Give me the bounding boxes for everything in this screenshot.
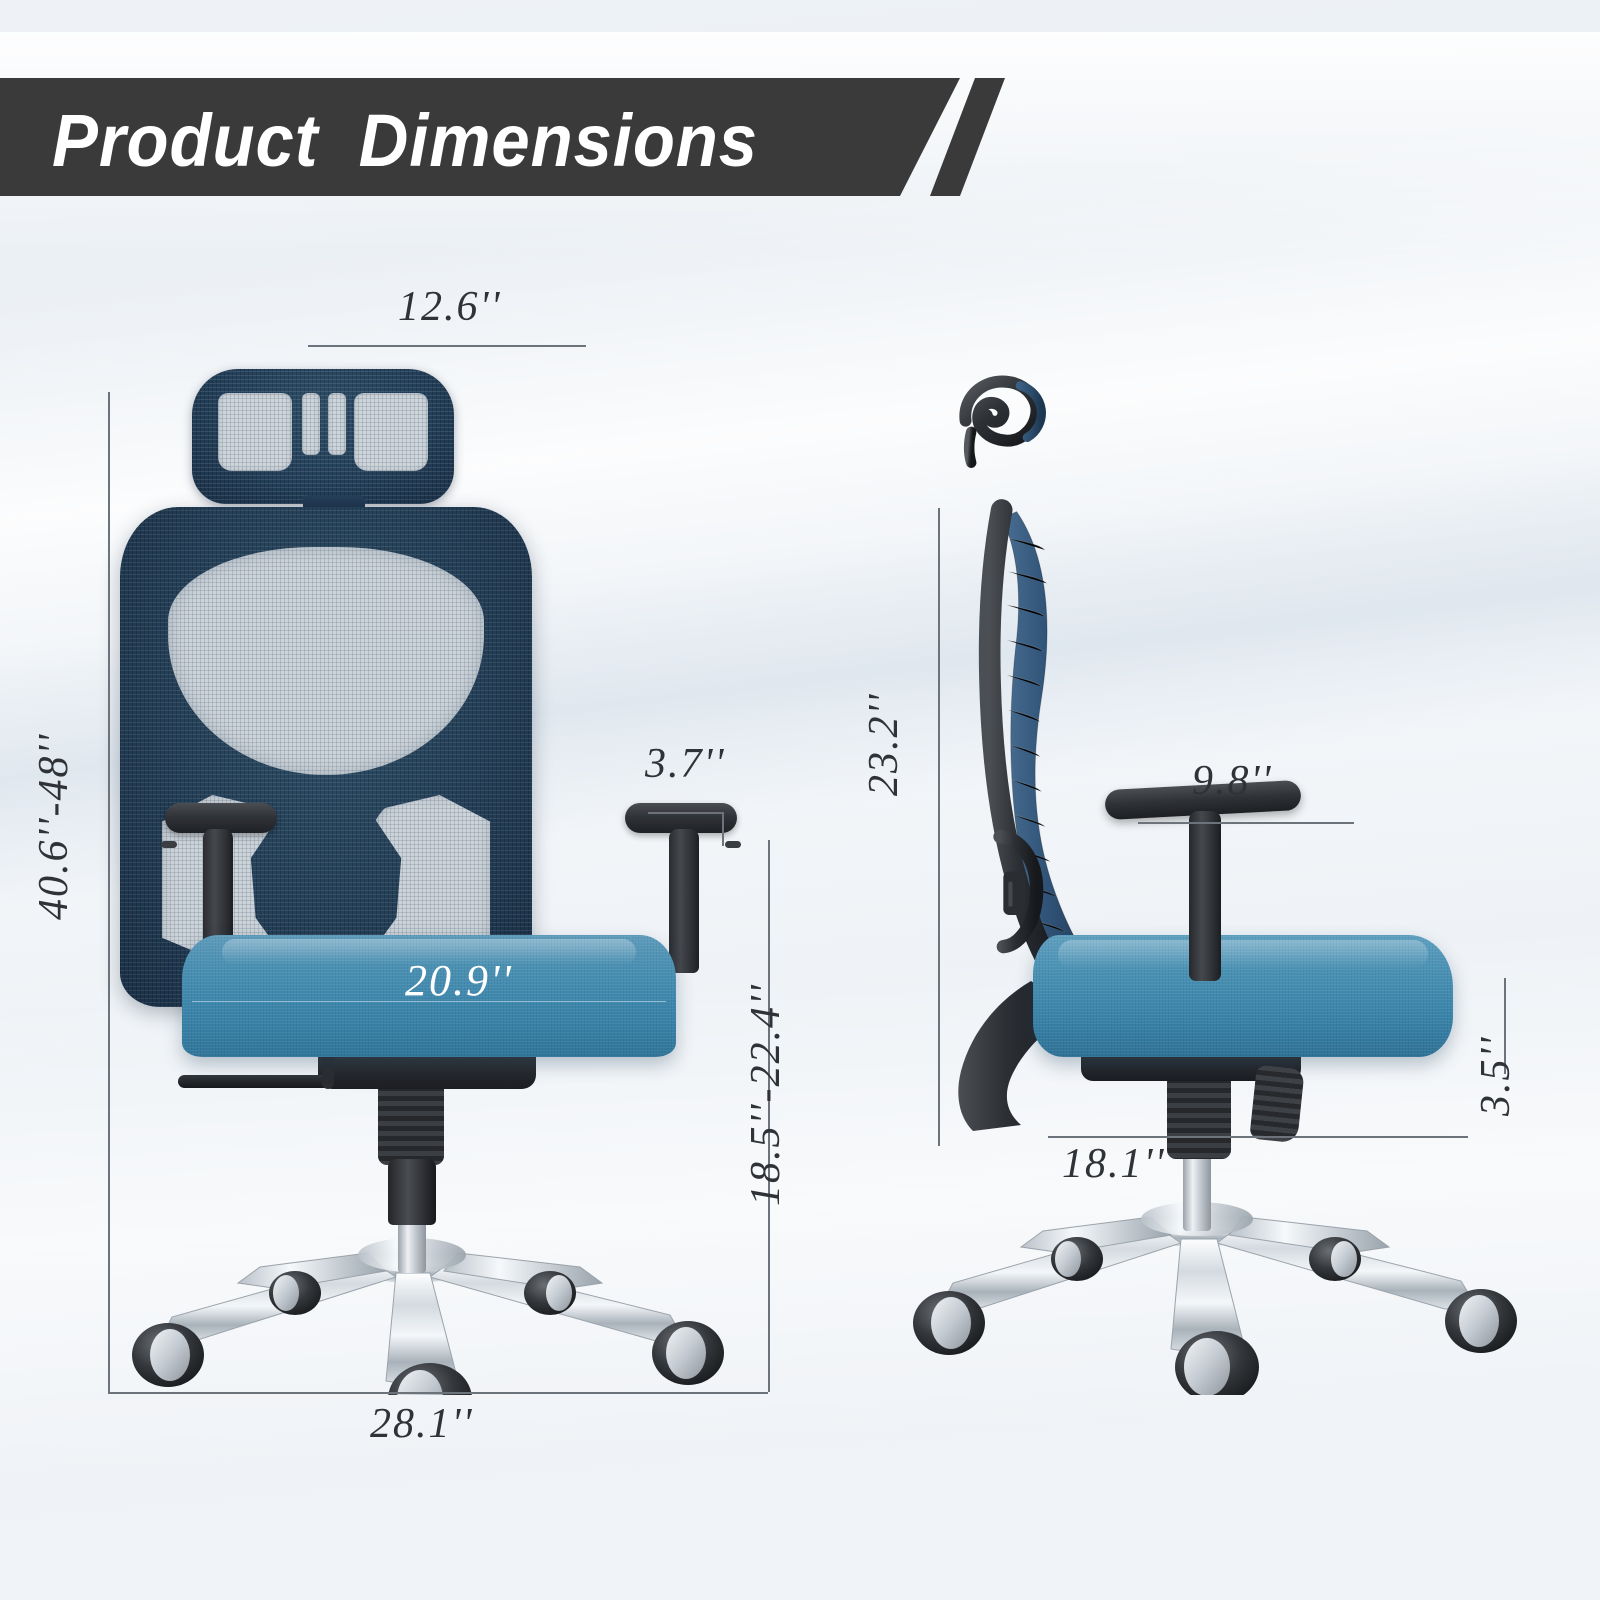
gas-cylinder [1183,1151,1211,1231]
armrest-post [1189,811,1221,981]
measure-line-headrest-width [308,345,586,347]
chair-front-view [110,355,770,1395]
caster [913,1291,985,1355]
measure-line-armrest-width [648,812,724,814]
measure-line-armrest-length [1138,822,1354,824]
measure-line-seat-depth [1048,1136,1468,1138]
measure-tick-armrest-right [722,812,724,846]
tension-knob[interactable] [1249,1065,1304,1144]
chair-side-view [905,355,1545,1395]
dim-base-width: 28.1'' [370,1400,473,1448]
dim-seat-height: 18.5''-22.4'' [742,983,790,1206]
headrest-side [953,360,1093,515]
gas-lift-bellows [1167,1073,1231,1159]
armrest-adjust-button[interactable] [725,841,741,848]
measure-line-backrest-height [938,508,940,1146]
dim-overall-height: 40.6''-48'' [30,733,78,920]
lever-linkage [322,1055,334,1089]
caster [132,1323,204,1387]
caster [1445,1289,1517,1353]
gas-lift-shroud [388,1159,436,1225]
height-adjust-lever[interactable] [178,1075,330,1088]
dim-armrest-length: 9.8'' [1192,757,1272,805]
gas-lift-bellows [378,1081,444,1165]
caster [1309,1237,1361,1281]
measure-line-base-width [108,1392,768,1394]
dim-seat-thickness: 3.5'' [1472,1036,1520,1116]
dim-seat-depth: 18.1'' [1062,1140,1165,1188]
caster [269,1271,321,1315]
dim-headrest-width: 12.6'' [398,283,501,331]
page-title: Product Dimensions [52,98,758,183]
header-banner: Product Dimensions [0,78,1005,196]
seat-highlight [1058,940,1428,968]
dim-backrest-height: 23.2'' [860,693,908,796]
caster [524,1271,576,1315]
measure-line-overall-height [108,392,110,1392]
caster [1051,1237,1103,1281]
caster [652,1321,724,1385]
gas-cylinder [398,1217,426,1273]
armrest-adjust-button[interactable] [161,841,177,848]
seat-cushion-side [1033,935,1453,1057]
dim-seat-width: 20.9'' [405,955,513,1006]
dim-armrest-width: 3.7'' [645,740,725,788]
